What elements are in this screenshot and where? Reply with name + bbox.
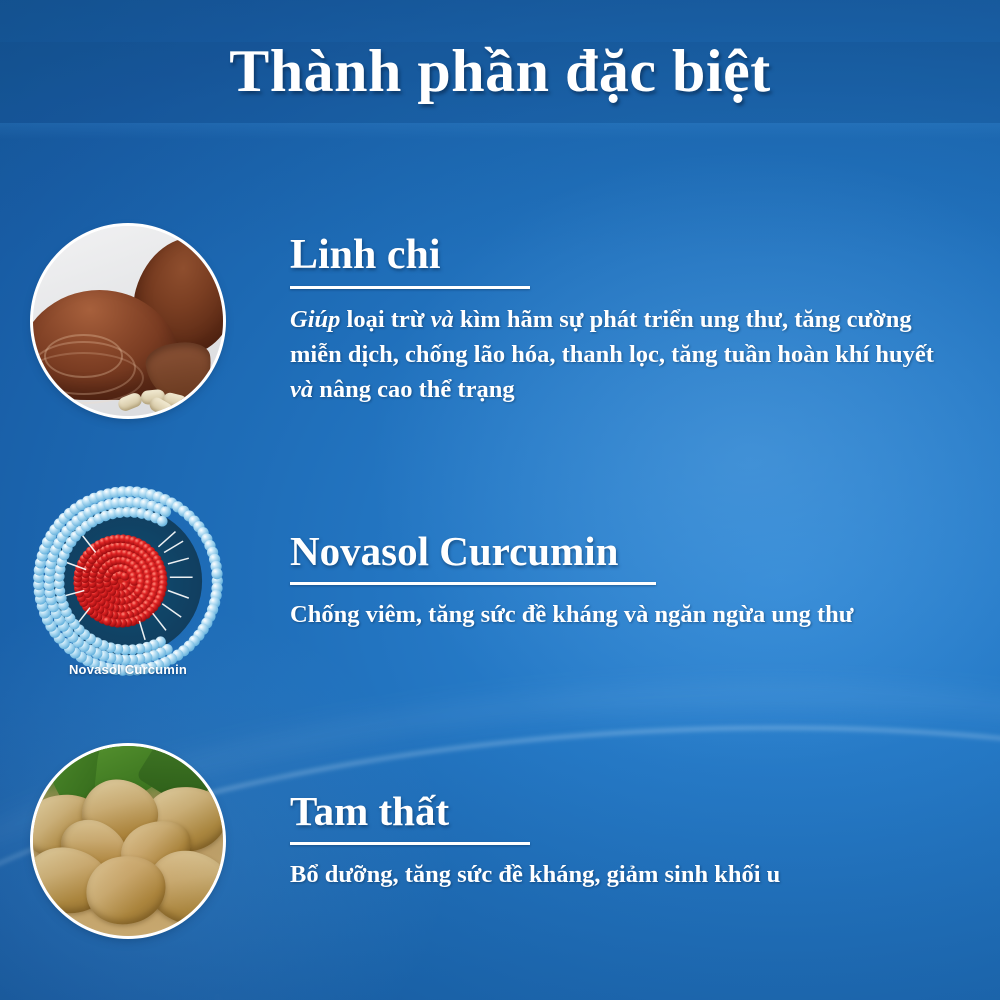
- ingredient-row-linh-chi: Linh chi Giúp loại trừ và kìm hãm sự phá…: [0, 218, 1000, 423]
- desc-part-italic-giup: Giúp: [290, 306, 347, 333]
- panax-pseudoginseng-root-photo: [33, 746, 223, 936]
- desc-part-italic-va-2: và: [290, 376, 319, 403]
- ingredient-heading-tam-that: Tam thất: [290, 790, 960, 833]
- ingredient-row-tam-that: Tam thất Bổ dưỡng, tăng sức đề kháng, gi…: [0, 738, 1000, 943]
- thumbnail-linh-chi: [0, 218, 256, 423]
- header-band-fade: [0, 123, 1000, 139]
- novasol-micelle-illustration: [33, 486, 223, 676]
- ingredient-heading-novasol-curcumin: Novasol Curcumin: [290, 530, 960, 573]
- thumbnail-tam-that: [0, 738, 256, 943]
- thumbnail-novasol-curcumin: Novasol Curcumin: [0, 478, 256, 683]
- micelle-diagram-icon: [33, 486, 223, 676]
- heading-underline-linh-chi: [290, 286, 530, 289]
- ingredient-heading-linh-chi: Linh chi: [290, 233, 960, 277]
- ingredient-description-tam-that: Bổ dưỡng, tăng sức đề kháng, giảm sinh k…: [290, 859, 960, 891]
- ingredient-text-linh-chi: Linh chi Giúp loại trừ và kìm hãm sự phá…: [256, 233, 1000, 407]
- reishi-mushroom-photo: [33, 226, 223, 416]
- ingredient-row-novasol-curcumin: Novasol Curcumin Novasol Curcumin Chống …: [0, 478, 1000, 683]
- ingredient-text-novasol-curcumin: Novasol Curcumin Chống viêm, tăng sức đề…: [256, 530, 1000, 631]
- desc-part-1: loại trừ: [347, 306, 431, 333]
- ingredient-text-tam-that: Tam thất Bổ dưỡng, tăng sức đề kháng, gi…: [256, 790, 1000, 891]
- page-title: Thành phần đặc biệt: [0, 38, 1000, 105]
- desc-part-italic-va-1: và: [431, 306, 460, 333]
- ingredient-description-novasol-curcumin: Chống viêm, tăng sức đề kháng và ngăn ng…: [290, 599, 960, 631]
- heading-underline-novasol-curcumin: [290, 582, 656, 585]
- heading-underline-tam-that: [290, 842, 530, 845]
- desc-part-3: nâng cao thể trạng: [319, 376, 514, 403]
- ingredient-description-linh-chi: Giúp loại trừ và kìm hãm sự phát triển u…: [290, 303, 960, 407]
- thumbnail-caption-novasol: Novasol Curcumin: [0, 662, 256, 677]
- ingredients-poster: Thành phần đặc biệt Linh chi: [0, 0, 1000, 1000]
